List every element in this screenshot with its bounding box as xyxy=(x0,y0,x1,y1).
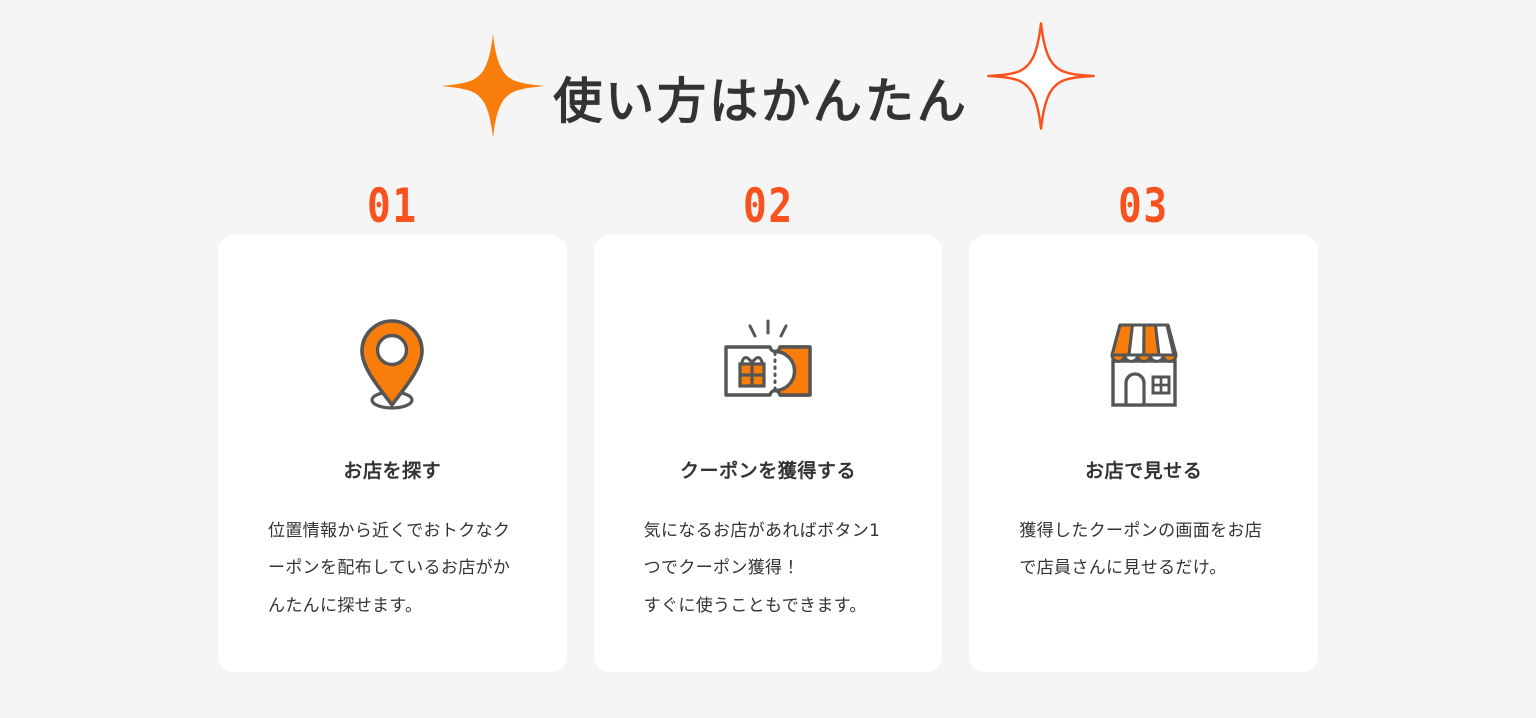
coupon-ticket-icon xyxy=(720,317,816,409)
step-icon-02 xyxy=(594,313,943,413)
coupon-sparkle-lines-icon xyxy=(750,321,786,336)
sparkle-filled-icon xyxy=(439,32,547,140)
step-number-03: 03 xyxy=(997,183,1290,230)
gift-box-icon xyxy=(740,358,764,387)
section-header: 使い方はかんたん xyxy=(0,24,1536,154)
step-body-01: 位置情報から近くでおトクなクーポンを配布しているお店がかんたんに探せます。 xyxy=(268,513,518,625)
step-card-01: 01 お店を探す 位置情報から近くでおトクなクーポンを配布しているお店がかんたん… xyxy=(218,235,567,672)
how-it-works-section: 使い方はかんたん 01 お店を探す 位置情報から近くでおトクなクーポンを配布して… xyxy=(0,0,1536,718)
step-icon-01 xyxy=(218,313,567,413)
step-body-line: 気になるお店があればボタン1つでクーポン獲得！ xyxy=(644,513,894,588)
step-card-02: 02 xyxy=(594,235,943,672)
step-body-line: 獲得したクーポンの画面をお店で店員さんに見せるだけ。 xyxy=(1019,513,1269,588)
step-card-03: 03 xyxy=(969,235,1318,672)
sparkle-outline-icon xyxy=(985,20,1097,132)
map-pin-icon xyxy=(356,315,428,411)
page-title: 使い方はかんたん xyxy=(553,47,969,132)
step-body-line: 位置情報から近くでおトクなクーポンを配布しているお店がかんたんに探せます。 xyxy=(268,513,518,625)
step-number-02: 02 xyxy=(622,183,915,230)
step-title-01: お店を探す xyxy=(218,460,567,483)
step-title-03: お店で見せる xyxy=(969,460,1318,483)
step-body-03: 獲得したクーポンの画面をお店で店員さんに見せるだけ。 xyxy=(1019,513,1269,588)
step-number-01: 01 xyxy=(246,183,539,230)
steps-card-list: 01 お店を探す 位置情報から近くでおトクなクーポンを配布しているお店がかんたん… xyxy=(218,235,1318,672)
step-body-line: すぐに使うこともできます。 xyxy=(644,588,894,625)
step-icon-03 xyxy=(969,313,1318,413)
storefront-icon xyxy=(1098,315,1190,411)
step-title-02: クーポンを獲得する xyxy=(594,460,943,483)
step-body-02: 気になるお店があればボタン1つでクーポン獲得！ すぐに使うこともできます。 xyxy=(644,513,894,625)
